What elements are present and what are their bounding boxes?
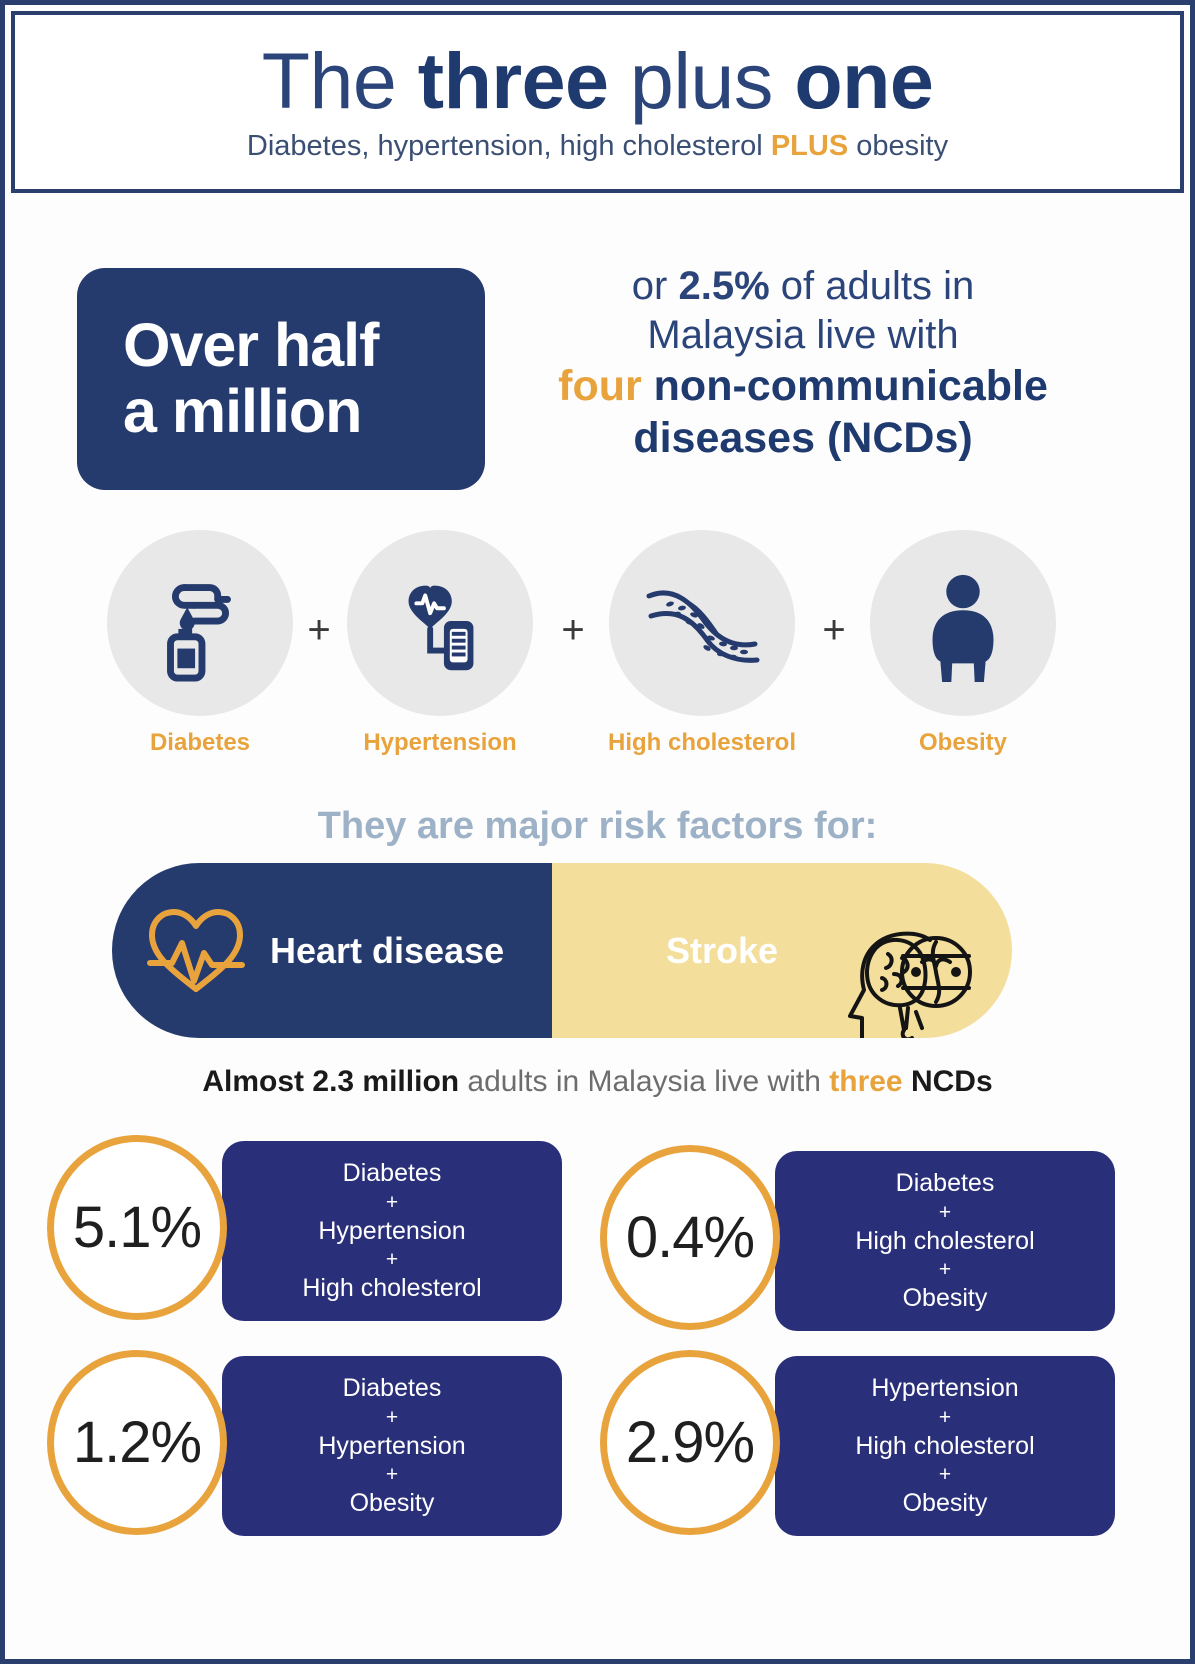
title-part-1: The bbox=[262, 36, 418, 125]
conditions-row: Diabetes + Hypertension + bbox=[5, 530, 1190, 800]
page-title: The three plus one bbox=[262, 41, 934, 120]
big-stat-line-1: Over half bbox=[123, 313, 378, 379]
desc-pct: 2.5% bbox=[678, 264, 769, 308]
combo-plus: + bbox=[939, 1257, 951, 1282]
combination-list: Diabetes + Hypertension + High cholester… bbox=[222, 1141, 562, 1321]
condition-hypertension: Hypertension bbox=[340, 530, 540, 757]
almost-three: three bbox=[829, 1065, 902, 1098]
combo-item: Hypertension bbox=[318, 1430, 465, 1463]
condition-label: Obesity bbox=[863, 730, 1063, 757]
combo-item: Hypertension bbox=[318, 1215, 465, 1248]
percent-ring: 5.1% bbox=[47, 1135, 227, 1320]
percent-value: 1.2% bbox=[73, 1409, 201, 1476]
almost-ncds: NCDs bbox=[903, 1065, 993, 1098]
percent-value: 5.1% bbox=[73, 1194, 201, 1261]
plus-icon-3: + bbox=[817, 608, 851, 653]
percent-ring: 1.2% bbox=[47, 1350, 227, 1535]
heart-disease-segment: Heart disease bbox=[112, 863, 552, 1038]
stroke-label: Stroke bbox=[666, 930, 778, 972]
combination-list: Diabetes + Hypertension + Obesity bbox=[222, 1356, 562, 1536]
condition-icon-bg bbox=[107, 530, 293, 716]
combo-item: High cholesterol bbox=[855, 1225, 1034, 1258]
page-subtitle: Diabetes, hypertension, high cholesterol… bbox=[247, 130, 948, 163]
artery-plaque-icon bbox=[637, 564, 767, 682]
percent-ring: 2.9% bbox=[600, 1350, 780, 1535]
combination-list: Diabetes + High cholesterol + Obesity bbox=[775, 1151, 1115, 1331]
combo-item: Obesity bbox=[903, 1282, 988, 1315]
plus-icon-1: + bbox=[302, 608, 336, 653]
desc-or: or bbox=[632, 264, 679, 308]
condition-label: High cholesterol bbox=[602, 730, 802, 756]
plus-icon-2: + bbox=[556, 608, 590, 653]
percent-value: 2.9% bbox=[626, 1409, 754, 1476]
desc-four: four bbox=[558, 362, 642, 410]
desc-of-adults: of adults in bbox=[770, 264, 975, 308]
condition-icon-bg bbox=[609, 530, 795, 716]
combo-plus: + bbox=[386, 1247, 398, 1272]
condition-diabetes: Diabetes bbox=[100, 530, 300, 757]
combo-item: Hypertension bbox=[871, 1372, 1018, 1405]
percent-value: 0.4% bbox=[626, 1204, 754, 1271]
almost-bold: Almost 2.3 million bbox=[202, 1065, 459, 1098]
risk-outcomes-band: Heart disease Stroke bbox=[112, 863, 1012, 1038]
title-part-three: three bbox=[418, 36, 609, 125]
combo-plus: + bbox=[386, 1462, 398, 1487]
combo-item: Diabetes bbox=[343, 1157, 442, 1190]
combination-card: 5.1% Diabetes + Hypertension + High chol… bbox=[27, 1135, 577, 1345]
subtitle-part-2: obesity bbox=[848, 130, 948, 162]
almost-23m-line: Almost 2.3 million adults in Malaysia li… bbox=[5, 1065, 1190, 1099]
brain-head-icon bbox=[804, 904, 984, 1038]
combo-item: High cholesterol bbox=[855, 1430, 1034, 1463]
headline-stat-row: Over half a million or 2.5% of adults in… bbox=[5, 250, 1190, 500]
heart-disease-label: Heart disease bbox=[270, 930, 504, 972]
heart-monitor-icon bbox=[381, 564, 499, 682]
condition-high-cholesterol: High cholesterol bbox=[602, 530, 802, 756]
combination-card: 1.2% Diabetes + Hypertension + Obesity bbox=[27, 1350, 577, 1560]
header-banner: The three plus one Diabetes, hypertensio… bbox=[11, 11, 1184, 193]
risk-factors-heading: They are major risk factors for: bbox=[5, 805, 1190, 848]
condition-icon-bg bbox=[347, 530, 533, 716]
combo-plus: + bbox=[939, 1200, 951, 1225]
combination-card: 2.9% Hypertension + High cholesterol + O… bbox=[580, 1350, 1130, 1560]
condition-label: Hypertension bbox=[340, 730, 540, 757]
combo-item: Obesity bbox=[350, 1487, 435, 1520]
glucometer-icon bbox=[141, 564, 259, 682]
combo-item: High cholesterol bbox=[302, 1272, 481, 1305]
combination-list: Hypertension + High cholesterol + Obesit… bbox=[775, 1356, 1115, 1536]
combo-item: Obesity bbox=[903, 1487, 988, 1520]
headline-description: or 2.5% of adults in Malaysia live with … bbox=[503, 262, 1103, 465]
condition-label: Diabetes bbox=[100, 730, 300, 757]
stroke-segment: Stroke bbox=[552, 863, 1012, 1038]
desc-noncomm: non-communicable bbox=[642, 362, 1048, 410]
percent-ring: 0.4% bbox=[600, 1145, 780, 1330]
combo-plus: + bbox=[939, 1462, 951, 1487]
obese-person-icon bbox=[904, 564, 1022, 682]
big-stat-line-2: a million bbox=[123, 379, 361, 445]
almost-mid: adults in Malaysia live with bbox=[459, 1065, 829, 1098]
combo-item: Diabetes bbox=[896, 1167, 995, 1200]
infographic-page: The three plus one Diabetes, hypertensio… bbox=[0, 0, 1195, 1664]
desc-line-4: diseases (NCDs) bbox=[503, 412, 1103, 464]
subtitle-plus: PLUS bbox=[771, 130, 848, 162]
desc-line-3: four non-communicable bbox=[503, 360, 1103, 412]
heart-pulse-icon bbox=[140, 901, 252, 1001]
combo-item: Diabetes bbox=[343, 1372, 442, 1405]
title-part-2: plus bbox=[608, 36, 794, 125]
combo-plus: + bbox=[386, 1190, 398, 1215]
subtitle-part-1: Diabetes, hypertension, high cholesterol bbox=[247, 130, 771, 162]
title-part-one: one bbox=[794, 36, 933, 125]
combination-card: 0.4% Diabetes + High cholesterol + Obesi… bbox=[580, 1145, 1130, 1355]
ncd-combination-grid: 5.1% Diabetes + Hypertension + High chol… bbox=[5, 1135, 1190, 1655]
condition-icon-bg bbox=[870, 530, 1056, 716]
desc-line-2: Malaysia live with bbox=[503, 311, 1103, 360]
desc-line-1: or 2.5% of adults in bbox=[503, 262, 1103, 311]
over-half-million-box: Over half a million bbox=[77, 268, 485, 490]
condition-label-text: High cholesterol bbox=[608, 729, 796, 756]
combo-plus: + bbox=[386, 1405, 398, 1430]
condition-obesity: Obesity bbox=[863, 530, 1063, 757]
combo-plus: + bbox=[939, 1405, 951, 1430]
